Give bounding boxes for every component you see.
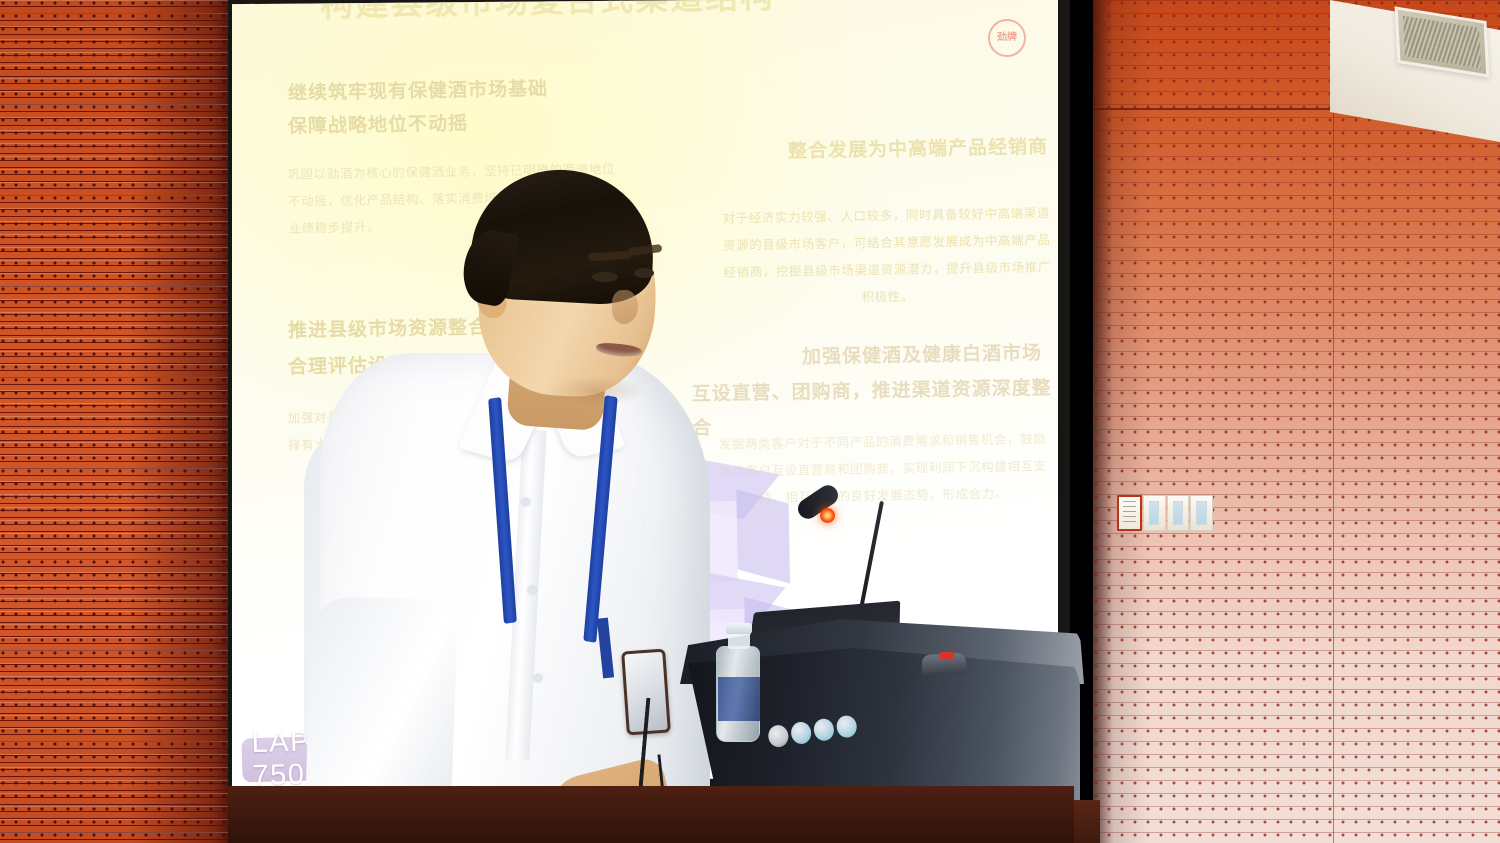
- bottle-label: [718, 677, 760, 721]
- podium-dot: [767, 724, 790, 749]
- wall-panel-seam-top: [1093, 108, 1334, 110]
- podium-dot: [835, 714, 858, 739]
- shirt-button: [528, 586, 536, 594]
- left-heading-line1: 继续筑牢现有保健酒市场基础: [288, 73, 549, 112]
- slide-title: 构建县级市场复合式渠道结构: [320, 0, 881, 26]
- chin-shadow: [548, 376, 644, 406]
- podium-dot: [812, 717, 835, 742]
- company-stamp-icon: 劲牌: [988, 19, 1027, 58]
- light-switch-2[interactable]: [1167, 495, 1190, 531]
- right-heading-line1: 整合发展为中高端产品经销商: [788, 131, 1049, 170]
- light-switch-3[interactable]: [1190, 495, 1213, 531]
- shirt-button: [522, 498, 530, 506]
- right-heading2-line1: 加强保健酒及健康白酒市场: [802, 337, 1043, 375]
- presentation-photo: 构建县级市场复合式渠道结构 劲牌 继续筑牢现有保健酒市场基础 保障战略地位不动摇…: [0, 0, 1500, 843]
- speaker-hair: [469, 165, 658, 306]
- wall-switch-panel[interactable]: [1117, 495, 1213, 531]
- notice-text-lines: [1123, 501, 1136, 525]
- left-acoustic-wall: [0, 0, 232, 843]
- podium-dot: [790, 721, 813, 746]
- speaker-eye: [634, 268, 654, 278]
- light-switch-1[interactable]: [1143, 495, 1166, 531]
- floor-shadow-strip: [228, 786, 1074, 843]
- wall-perforation-dots: [0, 0, 232, 843]
- wall-panel-seam: [1333, 110, 1334, 843]
- microphone-led-icon: [820, 508, 835, 523]
- rocker-icon: [1149, 501, 1159, 525]
- rocker-icon: [1173, 501, 1183, 525]
- bottle-cap: [726, 623, 752, 634]
- shirt-button: [534, 674, 542, 682]
- wall-notice-plate: [1117, 495, 1142, 531]
- microphone-base-led-icon: [940, 652, 954, 660]
- right-body-text: 对于经济实力较强、人口较多，同时具备较好中高端渠道资源的县级市场客户，可结合其意…: [721, 200, 1053, 314]
- water-bottle: [716, 646, 760, 742]
- left-heading-line2: 保障战略地位不动摇: [288, 107, 469, 144]
- rocker-icon: [1196, 501, 1206, 525]
- speaker-eye: [592, 272, 618, 282]
